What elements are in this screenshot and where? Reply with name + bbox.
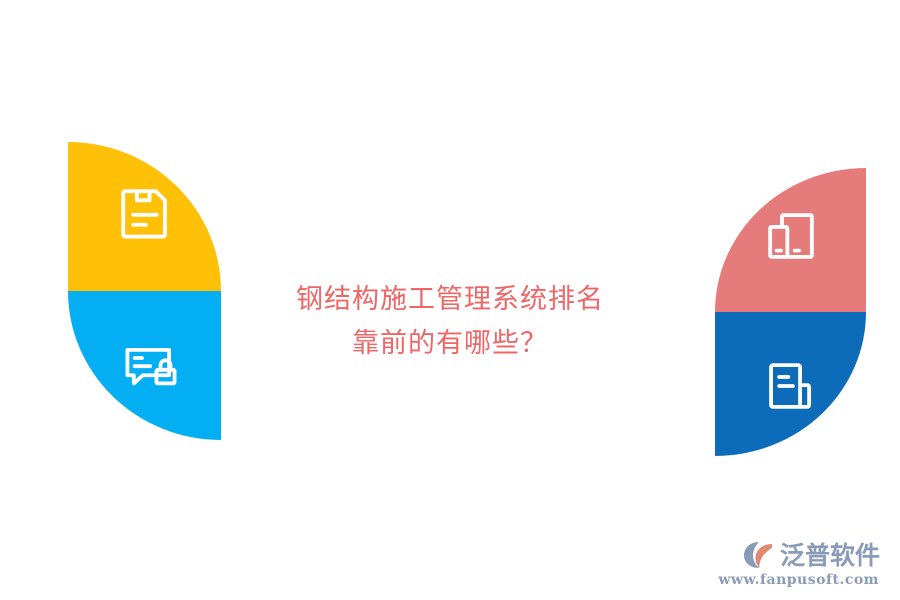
brand-name: 泛普软件 (780, 543, 880, 568)
left-petal-top (68, 142, 221, 291)
brand-watermark: 泛普软件 www.fanpusoft.com (718, 540, 880, 588)
fanpu-logo-icon (742, 540, 776, 570)
brand-row: 泛普软件 (742, 540, 880, 570)
page-title-line-1: 钢结构施工管理系统排名 (0, 278, 900, 322)
brand-url: www.fanpusoft.com (718, 572, 879, 588)
page-title: 钢结构施工管理系统排名 靠前的有哪些？ (0, 278, 900, 366)
devices-icon (762, 207, 820, 265)
page-title-line-2: 靠前的有哪些？ (0, 322, 900, 366)
poster-canvas: 钢结构施工管理系统排名 靠前的有哪些？ 泛普软件 www.fanpusoft.c… (0, 0, 900, 600)
document-save-icon (116, 184, 174, 242)
